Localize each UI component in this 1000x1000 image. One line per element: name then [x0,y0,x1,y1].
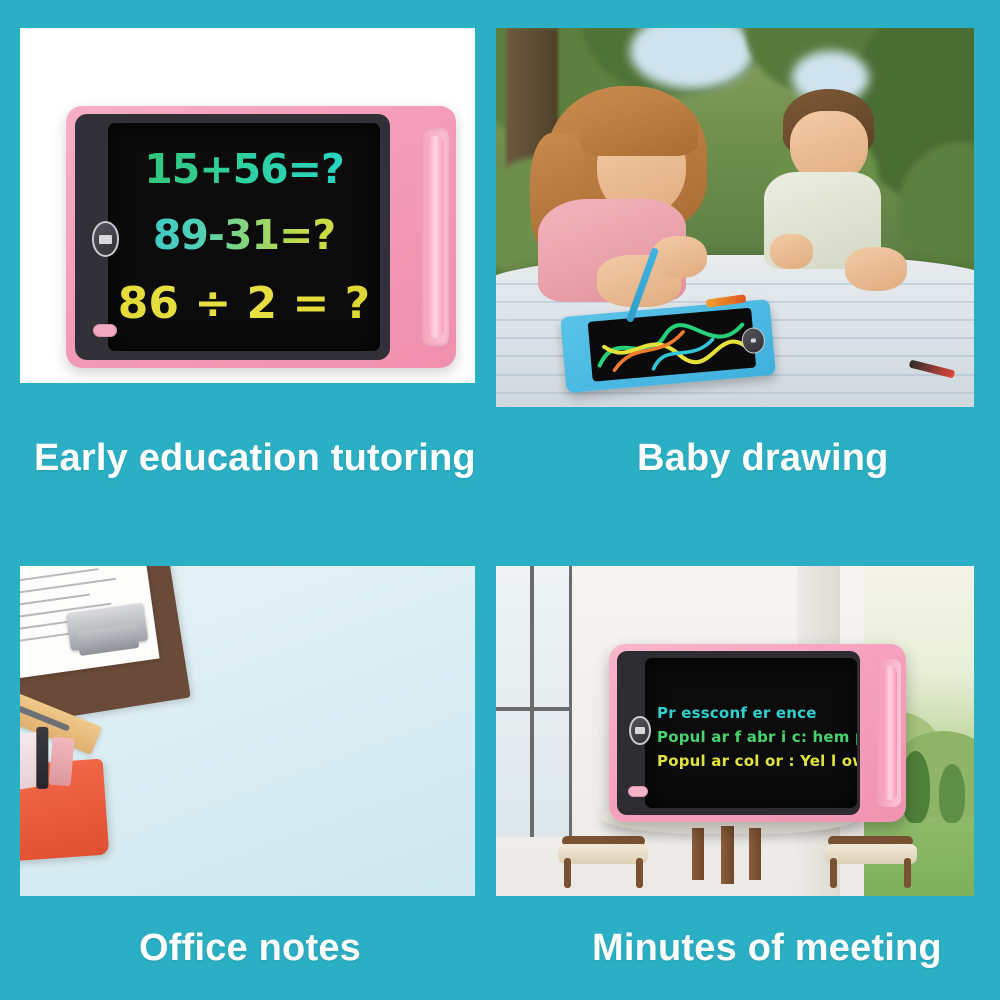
child-boy [754,89,917,309]
tablet-screen [588,308,757,383]
meeting-line-2: Popul ar f abr i c: hem pcot t on [657,728,857,746]
panel-minutes-of-meeting: Pr essconf er ence Popul ar f abr i c: h… [496,566,974,896]
status-led [628,786,648,797]
erase-button[interactable] [629,716,651,745]
erase-button[interactable] [92,221,119,257]
chair-right [825,812,917,888]
photo-children-drawing-outdoors [496,28,974,407]
erase-icon [750,339,755,343]
equation-line-2: 89-31=? [108,211,380,259]
panel-early-education: 15+56=? 89-31=? 86 ÷ 2 = ? [20,28,475,383]
caption-baby-drawing: Baby drawing [637,437,889,480]
caption-minutes-of-meeting: Minutes of meeting [592,927,942,970]
meeting-line-1: Pr essconf er ence [657,704,817,722]
erase-icon [635,727,645,734]
photo-desk-with-tablet: 9: 10M eet i ng 9: 50Or gani zenew t r a… [20,566,475,896]
lcd-writing-tablet-pink: 15+56=? 89-31=? 86 ÷ 2 = ? [66,106,456,368]
stylus-pen[interactable] [883,666,897,800]
scribble-drawing [588,308,757,383]
erase-icon [99,235,112,244]
stylus-pen[interactable] [427,136,444,338]
room-window [496,566,572,837]
caption-office-notes: Office notes [139,927,361,970]
lcd-writing-tablet-pink: Pr essconf er ence Popul ar f abr i c: h… [609,644,906,822]
panel-office-notes: 9: 10M eet i ng 9: 50Or gani zenew t r a… [20,566,475,896]
product-feature-collage: 15+56=? 89-31=? 86 ÷ 2 = ? [0,0,1000,1000]
status-led [93,324,117,337]
chair-left [558,812,648,888]
equation-line-1: 15+56=? [108,145,380,193]
tablet-screen: 15+56=? 89-31=? 86 ÷ 2 = ? [108,123,380,351]
caption-early-education: Early education tutoring [34,437,476,480]
panel-baby-drawing [496,28,974,407]
meeting-line-3: Popul ar col or : Yel l ow bl ue [657,752,857,770]
photo-meeting-room: Pr essconf er ence Popul ar f abr i c: h… [496,566,974,896]
equation-line-3: 86 ÷ 2 = ? [108,278,380,329]
pen-holder [20,759,109,862]
tablet-screen: Pr essconf er ence Popul ar f abr i c: h… [645,658,857,808]
